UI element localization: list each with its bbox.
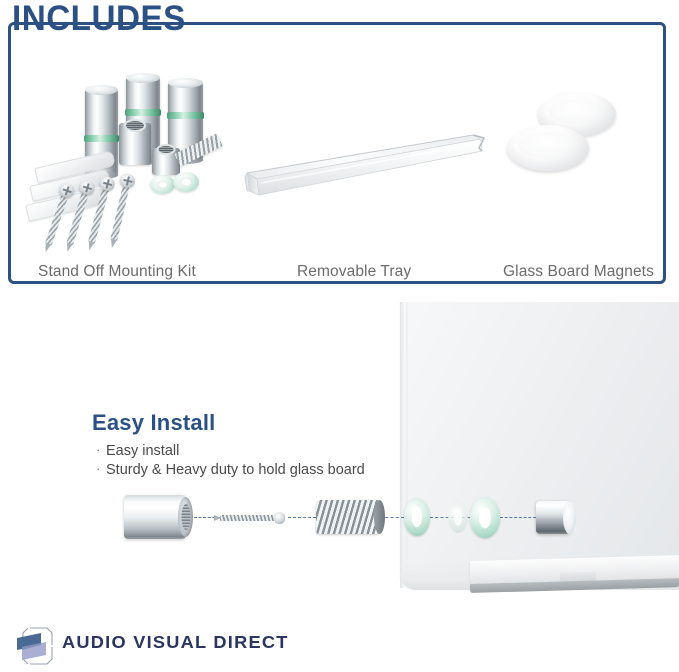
aluminum-tray-icon xyxy=(241,121,491,211)
logo-wordmark: AUDIO VISUAL DIRECT xyxy=(62,632,289,653)
centerline-segment xyxy=(288,517,316,518)
install-bullet-1: ·Easy install xyxy=(96,442,179,459)
bullet-dot-icon: · xyxy=(96,461,106,476)
assembly-part-washer-behind-glass xyxy=(448,501,468,533)
standoff-hardware-icon xyxy=(23,57,238,257)
assembly-part-threaded-stud xyxy=(316,500,380,534)
exploded-assembly-diagram xyxy=(118,487,548,549)
tray-svg xyxy=(241,121,491,211)
easy-install-heading: Easy Install xyxy=(92,410,215,436)
install-bullet-2: ·Sturdy & Heavy duty to hold glass board xyxy=(96,461,365,478)
assembly-part-washer-inner xyxy=(404,498,430,536)
item-label-standoff: Stand Off Mounting Kit xyxy=(38,263,196,281)
item-label-magnets: Glass Board Magnets xyxy=(503,263,654,281)
logo-mark-icon xyxy=(14,625,58,667)
includes-panel: Stand Off Mounting Kit Removable Tray Gl… xyxy=(8,22,666,284)
brand-logo: AUDIO VISUAL DIRECT xyxy=(14,625,264,667)
bullet-dot-icon: · xyxy=(96,442,106,457)
install-bullet-1-text: Easy install xyxy=(106,443,179,459)
centerline-segment xyxy=(500,517,536,518)
assembly-part-washer-outer xyxy=(470,497,500,538)
page-title: INCLUDES xyxy=(12,0,186,39)
assembly-part-chrome-cap xyxy=(536,501,570,534)
install-bullet-2-text: Sturdy & Heavy duty to hold glass board xyxy=(106,462,365,478)
assembly-part-standoff-barrel xyxy=(124,495,186,539)
item-label-tray: Removable Tray xyxy=(297,263,411,281)
